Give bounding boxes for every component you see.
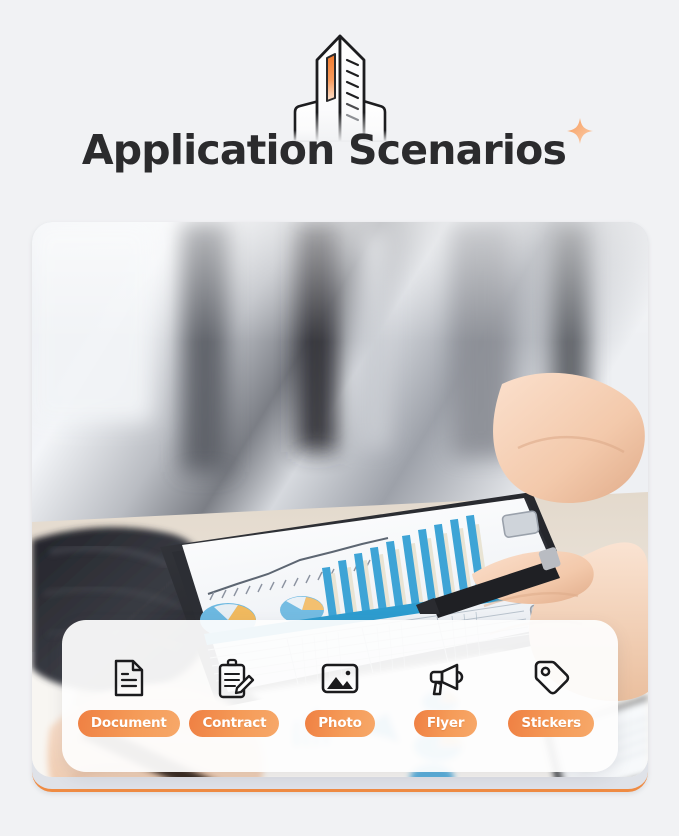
category-label-flyer: Flyer bbox=[414, 710, 477, 737]
category-label-stickers: Stickers bbox=[508, 710, 594, 737]
category-item-flyer[interactable]: Flyer bbox=[394, 656, 498, 737]
category-label-contract: Contract bbox=[189, 710, 279, 737]
category-item-document[interactable]: Document bbox=[77, 656, 181, 737]
sparkle-icon bbox=[563, 116, 597, 150]
category-label-document: Document bbox=[78, 710, 180, 737]
clipboard-pencil-icon bbox=[212, 656, 256, 700]
megaphone-icon bbox=[424, 656, 468, 700]
header: Application Scenarios bbox=[0, 0, 679, 210]
page-title: Application Scenarios bbox=[82, 128, 566, 173]
category-item-stickers[interactable]: Stickers bbox=[499, 656, 603, 737]
category-item-contract[interactable]: Contract bbox=[182, 656, 286, 737]
category-card: Document Contract Photo bbox=[62, 620, 618, 772]
category-item-photo[interactable]: Photo bbox=[288, 656, 392, 737]
title-row: Application Scenarios bbox=[0, 128, 679, 173]
document-file-icon bbox=[107, 656, 151, 700]
price-tag-icon bbox=[529, 656, 573, 700]
category-label-photo: Photo bbox=[305, 710, 375, 737]
image-picture-icon bbox=[318, 656, 362, 700]
application-scenarios-page: Application Scenarios bbox=[0, 0, 679, 836]
